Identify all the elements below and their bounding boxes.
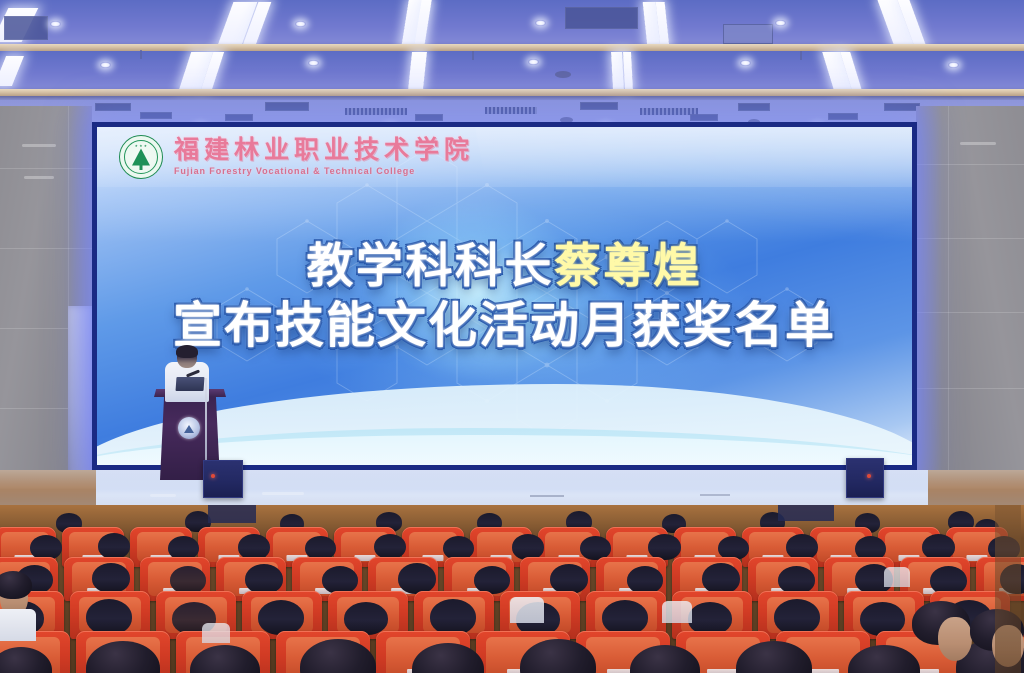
attendee-head — [322, 566, 358, 594]
presenter-hair — [176, 345, 198, 358]
attendee-head — [98, 533, 130, 559]
air-vent — [265, 102, 309, 111]
attendee-head — [258, 600, 304, 635]
college-name-en: Fujian Forestry Vocational & Technical C… — [174, 167, 474, 176]
wall-vent — [22, 144, 56, 147]
attendee-head — [778, 566, 815, 594]
rear-monitor — [208, 505, 256, 523]
air-vent — [723, 24, 773, 44]
attendee-head — [627, 566, 663, 594]
attendee-torso — [0, 609, 36, 641]
wall-ambient-glow — [66, 106, 92, 510]
stage-cable — [150, 494, 176, 497]
downlight — [50, 21, 61, 27]
aisle — [995, 505, 1021, 673]
air-vent — [565, 7, 638, 29]
ceiling-speaker-icon — [555, 71, 571, 78]
attendee-head — [374, 534, 406, 559]
attendee-head — [430, 599, 476, 635]
air-vent-grille — [485, 107, 537, 114]
light-panel — [611, 52, 624, 90]
seal-tree-shape — [132, 149, 150, 166]
downlight — [535, 20, 546, 26]
attendee-head — [245, 564, 283, 594]
air-vent — [738, 103, 770, 111]
stage-speaker-left — [203, 460, 243, 498]
rear-monitor — [778, 505, 834, 521]
wall-vent — [24, 176, 54, 179]
downlight — [528, 59, 539, 65]
stage-cable — [530, 495, 564, 497]
downlight — [295, 21, 306, 27]
attendee-head — [170, 566, 206, 594]
seal-arc-text: ★ ★ ★ — [135, 144, 148, 148]
attendee-head — [398, 563, 436, 594]
attendee-head — [550, 564, 588, 594]
podium-laptop — [176, 377, 205, 391]
downlight — [308, 60, 319, 66]
college-name-cn: 福建林业职业技术学院 — [174, 138, 474, 163]
slide-title-block: 教学科科长蔡尊煌 宣布技能文化活动月获奖名单 — [97, 239, 912, 354]
air-vent-grille — [345, 108, 407, 115]
auditorium-photo: ★ ★ ★ 福建林业职业技术学院 Fujian Forestry Vocatio… — [0, 0, 1024, 673]
attendee-torso — [884, 567, 910, 587]
downlight — [100, 62, 111, 68]
air-vent — [4, 16, 48, 40]
air-vent — [140, 112, 172, 119]
slide-header: ★ ★ ★ 福建林业职业技术学院 Fujian Forestry Vocatio… — [97, 127, 912, 187]
attendee-torso — [510, 597, 544, 623]
air-vent — [225, 114, 253, 121]
ceiling-rod — [472, 51, 474, 60]
ceiling-band-2 — [0, 51, 1024, 89]
ceiling-band-1 — [0, 0, 1024, 44]
air-vent — [415, 114, 443, 121]
stage-cable — [262, 492, 304, 495]
seal-trunk-shape — [140, 164, 143, 170]
air-vent — [95, 103, 131, 111]
speaker-power-led — [211, 474, 215, 478]
slide-title-line-1-prefix: 教学科科长 — [307, 239, 555, 292]
ceiling-rod — [140, 50, 142, 59]
ceiling-rod — [800, 51, 802, 60]
speaker-power-led — [867, 474, 871, 478]
wall-ambient-glow — [916, 106, 942, 510]
slide-title-line-2: 宣布技能文化活动月获奖名单 — [97, 298, 912, 355]
stage-cable — [700, 494, 730, 496]
slide-title-speaker-name: 蔡尊煌 — [554, 239, 703, 292]
air-vent — [828, 113, 858, 120]
attendee-head — [602, 600, 648, 635]
ceiling-beam — [0, 44, 1024, 51]
downlight — [948, 62, 959, 68]
attendee-face — [938, 617, 972, 661]
college-seal-icon: ★ ★ ★ — [119, 135, 163, 179]
slide-title-line-1: 教学科科长蔡尊煌 — [97, 239, 912, 294]
podium-crest-icon — [178, 417, 200, 439]
attendee-head — [92, 563, 130, 593]
attendee-torso — [662, 601, 692, 623]
downlight — [775, 20, 786, 26]
ceiling-beam — [0, 89, 1024, 96]
air-vent — [690, 114, 718, 121]
audience-area — [0, 505, 1024, 673]
air-vent — [884, 103, 920, 111]
college-name-block: 福建林业职业技术学院 Fujian Forestry Vocational & … — [174, 138, 474, 176]
attendee-head — [774, 599, 820, 635]
downlight — [740, 60, 751, 66]
wall-vent — [960, 142, 996, 145]
attendee-head — [0, 571, 32, 599]
attendee-torso — [202, 623, 230, 643]
air-vent — [580, 102, 618, 110]
wall-seam — [948, 106, 949, 510]
stage-speaker-right — [846, 458, 884, 498]
led-screen: ★ ★ ★ 福建林业职业技术学院 Fujian Forestry Vocatio… — [97, 127, 912, 465]
attendee-head — [702, 563, 740, 594]
attendee-head — [86, 599, 132, 635]
attendee-head — [474, 566, 510, 594]
